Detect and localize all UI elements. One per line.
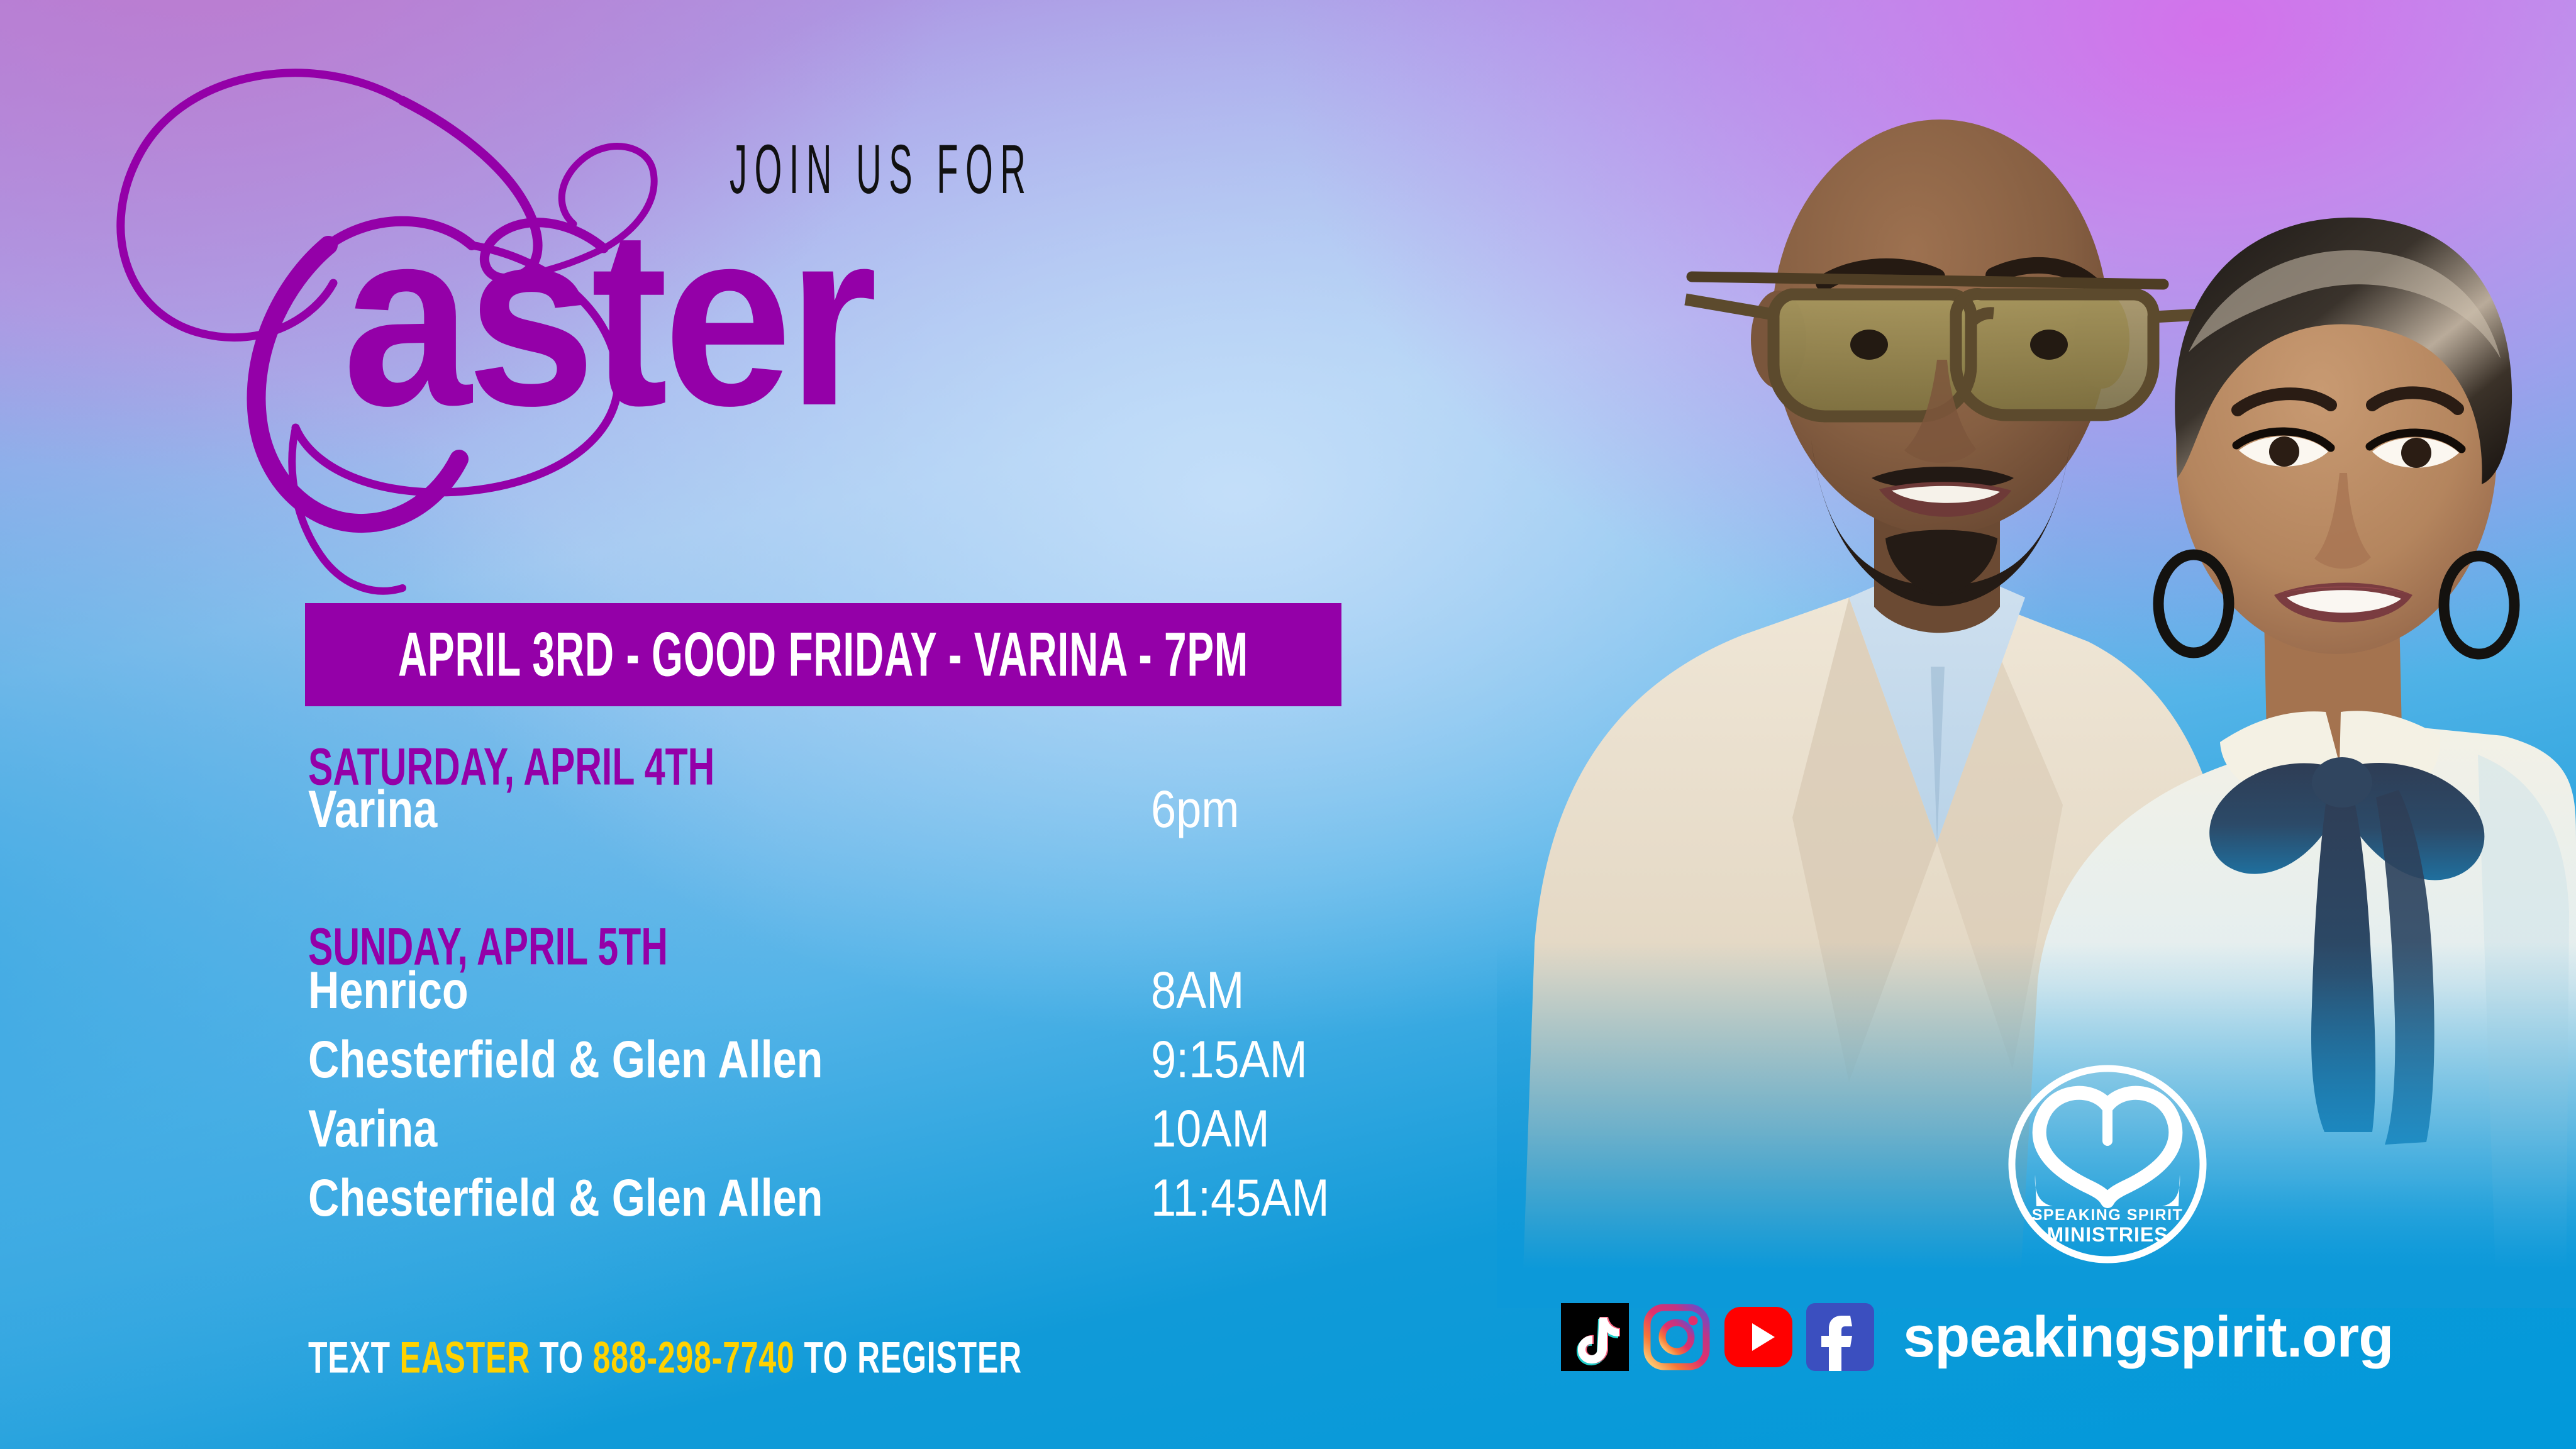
social-links-row: speakingspirit.org: [1561, 1303, 2394, 1371]
logo-line-1: SPEAKING SPIRIT: [2032, 1206, 2184, 1224]
easter-service-poster: JOIN US FOR aster APRIL 3RD - GOOD FRIDA…: [0, 0, 2576, 1449]
service-time: 10AM: [1151, 1099, 1270, 1159]
page-title: aster: [343, 192, 873, 443]
service-row: Varina 10AM: [308, 1104, 1276, 1159]
service-location: Varina: [308, 779, 1067, 840]
service-time: 9:15AM: [1151, 1030, 1307, 1090]
facebook-icon[interactable]: [1806, 1303, 1874, 1371]
website-url[interactable]: speakingspirit.org: [1903, 1304, 2394, 1370]
cta-prefix: TEXT: [308, 1333, 400, 1382]
good-friday-banner: APRIL 3RD - GOOD FRIDAY - VARINA - 7PM: [305, 603, 1341, 706]
cta-suffix: TO REGISTER: [795, 1333, 1022, 1382]
logo-line-2: MINISTRIES: [2046, 1223, 2168, 1246]
service-location: Varina: [308, 1099, 1067, 1159]
tiktok-icon[interactable]: [1561, 1303, 1629, 1371]
cta-phone-number[interactable]: 888-298-7740: [593, 1333, 795, 1382]
service-row: Henrico 8AM: [308, 966, 1249, 1021]
service-location: Henrico: [308, 960, 1067, 1021]
cta-keyword: EASTER: [400, 1333, 530, 1382]
register-cta: TEXT EASTER TO 888-298-7740 TO REGISTER: [308, 1332, 1022, 1384]
service-location: Chesterfield & Glen Allen: [308, 1168, 1067, 1228]
instagram-icon[interactable]: [1643, 1303, 1711, 1371]
service-row: Varina 6pm: [308, 785, 1244, 840]
cta-middle: TO: [530, 1333, 593, 1382]
good-friday-banner-text: APRIL 3RD - GOOD FRIDAY - VARINA - 7PM: [398, 619, 1248, 691]
service-row: Chesterfield & Glen Allen 9:15AM: [308, 1035, 1316, 1090]
service-row: Chesterfield & Glen Allen 11:45AM: [308, 1174, 1339, 1228]
youtube-icon[interactable]: [1724, 1303, 1792, 1371]
speaking-spirit-ministries-logo: SPEAKING SPIRIT MINISTRIES: [2004, 1060, 2211, 1268]
service-time: 8AM: [1151, 960, 1244, 1021]
service-location: Chesterfield & Glen Allen: [308, 1030, 1067, 1090]
service-time: 11:45AM: [1151, 1168, 1330, 1228]
service-time: 6pm: [1151, 779, 1239, 840]
